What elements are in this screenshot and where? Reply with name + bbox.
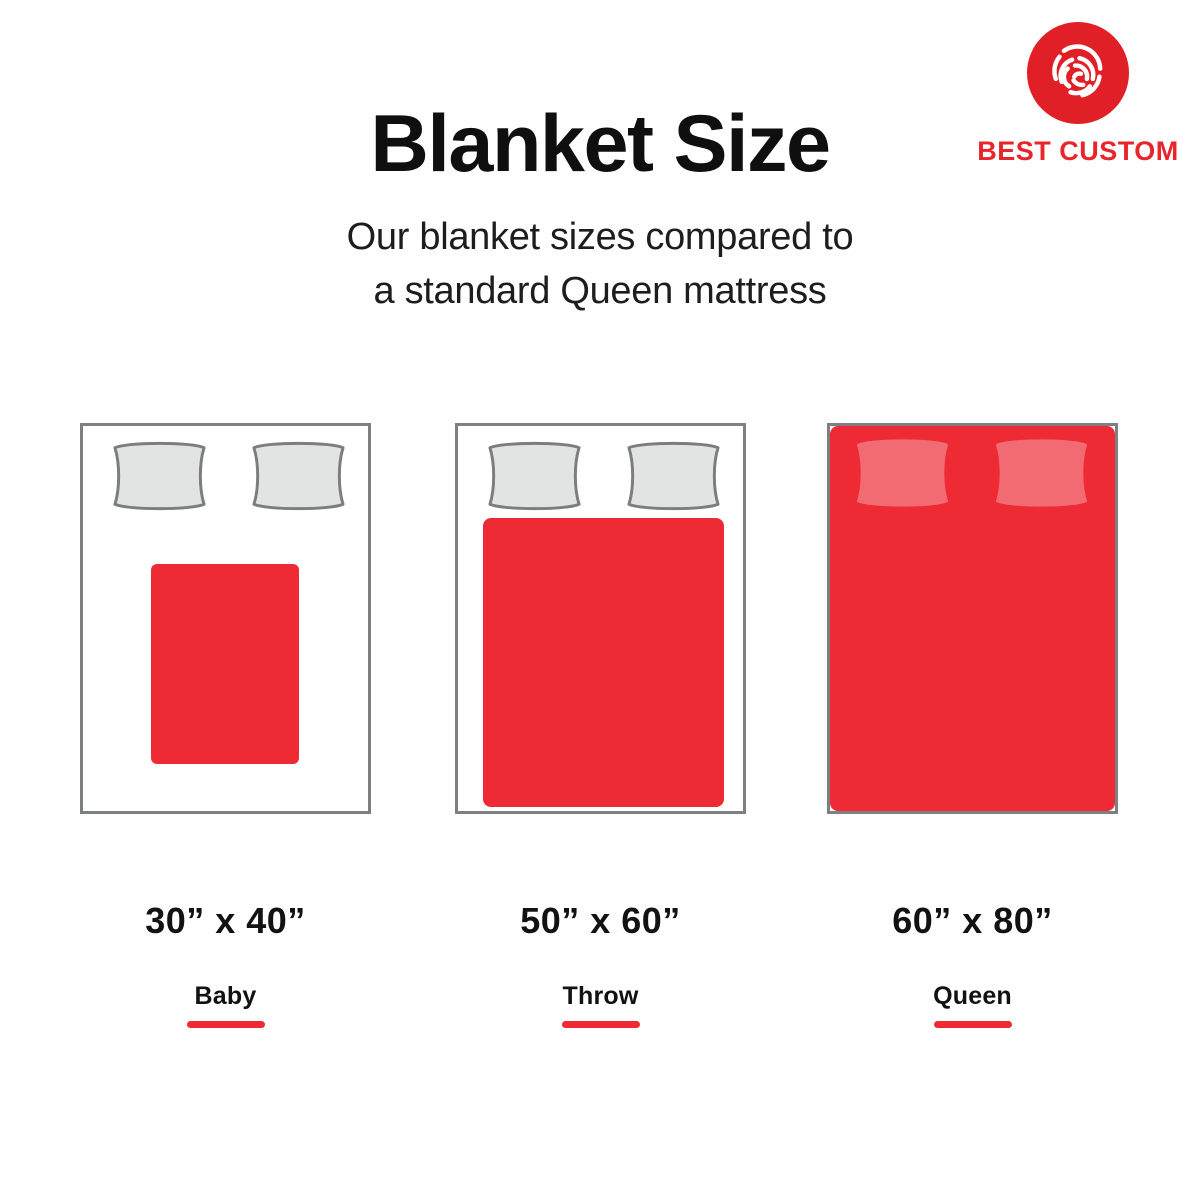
size-dimensions: 60” x 80” (827, 900, 1118, 942)
pillow-icon-left (853, 436, 952, 510)
subtitle-line-1: Our blanket sizes compared to (0, 211, 1200, 265)
pillow-icon-left (110, 439, 209, 513)
caption-baby: 30” x 40” Baby (80, 900, 371, 1028)
accent-underline (562, 1021, 640, 1028)
caption-row: 30” x 40” Baby 50” x 60” Throw 60” x 80”… (0, 900, 1200, 1060)
pillow-icon-right (992, 436, 1091, 510)
size-name: Baby (80, 982, 371, 1011)
heading-block: Blanket Size Our blanket sizes compared … (0, 104, 1200, 319)
blanket-overlay-throw (483, 518, 724, 807)
pillow-icon-left (485, 439, 584, 513)
pillow-icon-right (249, 439, 348, 513)
page-title: Blanket Size (0, 104, 1200, 185)
size-name: Queen (827, 982, 1118, 1011)
bed-diagram-queen (827, 423, 1118, 814)
caption-queen: 60” x 80” Queen (827, 900, 1118, 1028)
blanket-overlay-baby (151, 564, 299, 764)
subtitle-line-2: a standard Queen mattress (0, 265, 1200, 319)
bed-diagram-throw (455, 423, 746, 814)
page-subtitle: Our blanket sizes compared to a standard… (0, 211, 1200, 319)
pillow-icon-right (624, 439, 723, 513)
blanket-overlay-queen (830, 426, 1115, 811)
accent-underline (187, 1021, 265, 1028)
caption-throw: 50” x 60” Throw (455, 900, 746, 1028)
bed-diagram-baby (80, 423, 371, 814)
accent-underline (934, 1021, 1012, 1028)
size-dimensions: 50” x 60” (455, 900, 746, 942)
size-dimensions: 30” x 40” (80, 900, 371, 942)
bed-comparison-row (0, 423, 1200, 815)
size-name: Throw (455, 982, 746, 1011)
